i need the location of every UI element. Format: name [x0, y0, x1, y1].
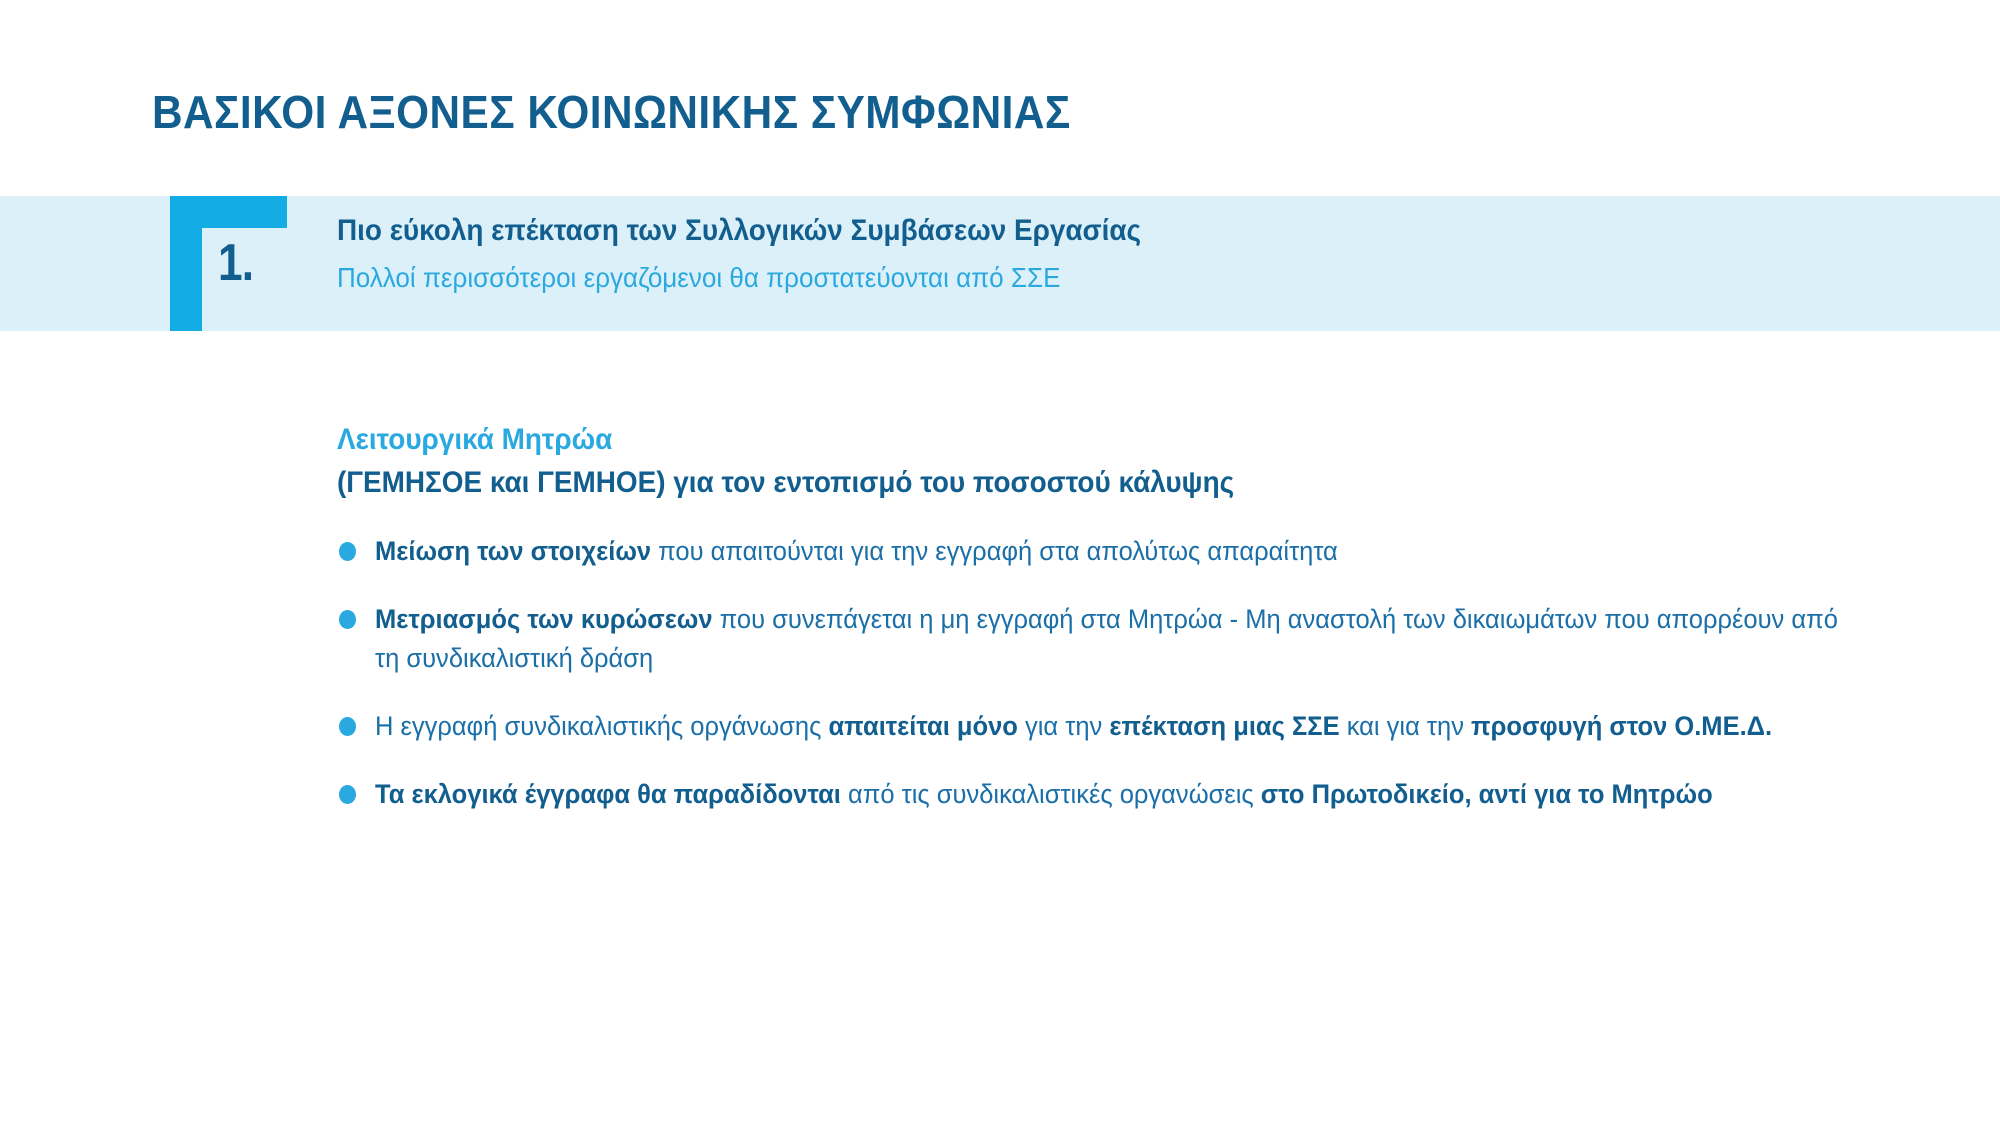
- list-item: Τα εκλογικά έγγραφα θα παραδίδονται από …: [337, 775, 1857, 813]
- section-heading: Πιο εύκολη επέκταση των Συλλογικών Συμβά…: [337, 212, 1732, 250]
- list-item: Η εγγραφή συνδικαλιστικής οργάνωσης απαι…: [337, 707, 1857, 745]
- list-item-text: Τα εκλογικά έγγραφα θα παραδίδονται από …: [375, 775, 1857, 813]
- section-subheading: Πολλοί περισσότεροι εργαζόμενοι θα προστ…: [337, 260, 1732, 295]
- body-content: Λειτουργικά Μητρώα (ΓΕΜΗΣΟΕ και ΓΕΜΗΟΕ) …: [337, 420, 1857, 844]
- bullet-dot-icon: [339, 717, 356, 736]
- corner-bracket-icon-left: [170, 196, 202, 331]
- list-item-text: Μετριασμός των κυρώσεων που συνεπάγεται …: [375, 600, 1857, 677]
- list-item: Μείωση των στοιχείων που απαιτούνται για…: [337, 532, 1857, 570]
- list-item-text: Μείωση των στοιχείων που απαιτούνται για…: [375, 532, 1857, 570]
- bullet-dot-icon: [339, 542, 356, 561]
- list-item-text: Η εγγραφή συνδικαλιστικής οργάνωσης απαι…: [375, 707, 1857, 745]
- bullet-dot-icon: [339, 785, 356, 804]
- page-title: ΒΑΣΙΚΟΙ ΑΞΟΝΕΣ ΚΟΙΝΩΝΙΚΗΣ ΣΥΜΦΩΝΙΑΣ: [152, 85, 1071, 139]
- list-item: Μετριασμός των κυρώσεων που συνεπάγεται …: [337, 600, 1857, 677]
- section-number-marker: 1.: [170, 196, 287, 331]
- bullet-list: Μείωση των στοιχείων που απαιτούνται για…: [337, 532, 1857, 814]
- registry-heading-primary: Λειτουργικά Μητρώα: [337, 420, 1751, 459]
- section-number: 1.: [218, 233, 253, 293]
- registry-heading-secondary: (ΓΕΜΗΣΟΕ και ΓΕΜΗΟΕ) για τον εντοπισμό τ…: [337, 463, 1751, 502]
- bullet-dot-icon: [339, 610, 356, 629]
- section-banner-text: Πιο εύκολη επέκταση των Συλλογικών Συμβά…: [337, 212, 1837, 295]
